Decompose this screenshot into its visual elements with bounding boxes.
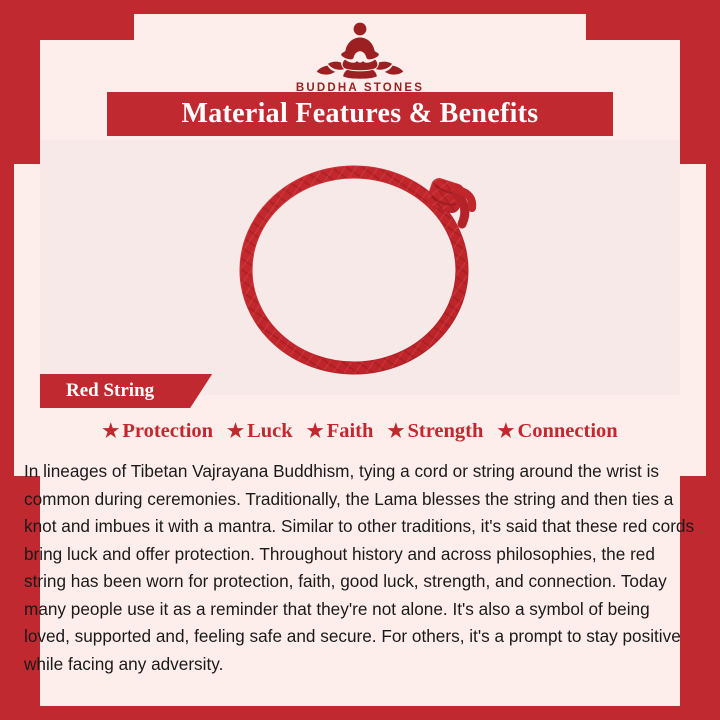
star-icon: ★ (102, 420, 119, 443)
benefit-label: Faith (327, 420, 374, 443)
benefit-label: Protection (122, 420, 213, 443)
product-label: Red String (66, 380, 154, 402)
benefit-item-protection: ★ Protection (102, 420, 213, 443)
benefit-label: Luck (247, 420, 293, 443)
frame-band-top (0, 0, 720, 14)
star-icon: ★ (227, 420, 244, 443)
page-title: Material Features & Benefits (182, 98, 539, 130)
benefit-label: Strength (407, 420, 483, 443)
benefit-item-luck: ★ Luck (217, 420, 293, 443)
product-label-tag: Red String (40, 374, 212, 408)
benefit-item-connection: ★ Connection (487, 420, 617, 443)
description-text: In lineages of Tibetan Vajrayana Buddhis… (24, 458, 696, 678)
title-banner: Material Features & Benefits (107, 92, 613, 136)
frame-band-bottom (0, 706, 720, 720)
star-icon: ★ (307, 420, 324, 443)
benefit-item-faith: ★ Faith (297, 420, 374, 443)
star-icon: ★ (387, 420, 404, 443)
red-string-bracelet-illustration (220, 150, 500, 380)
brand-logo: BUDDHA STONES (0, 18, 720, 94)
star-icon: ★ (497, 420, 514, 443)
lotus-meditation-figure-icon (301, 18, 419, 80)
benefit-label: Connection (517, 420, 617, 443)
benefits-row: ★ Protection ★ Luck ★ Faith ★ Strength ★… (40, 420, 680, 443)
benefit-item-strength: ★ Strength (377, 420, 483, 443)
product-image (0, 150, 720, 385)
infographic-page: BUDDHA STONES Material Features & Benefi… (0, 0, 720, 720)
